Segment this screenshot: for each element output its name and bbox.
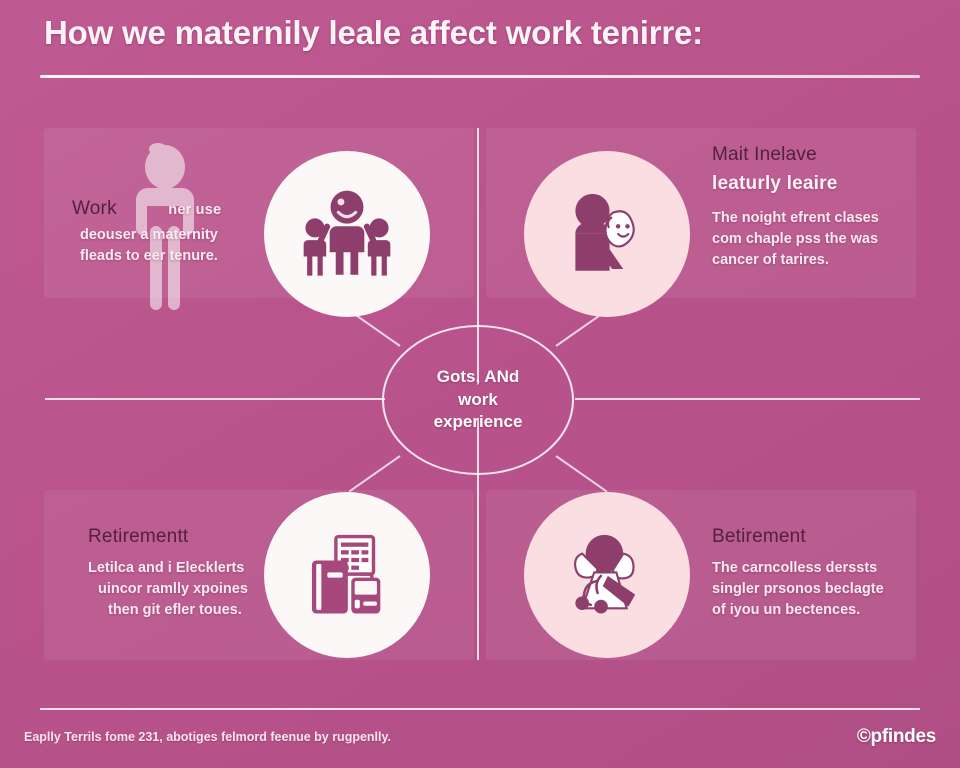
- icon-circle-work: [264, 151, 430, 317]
- text-block-retirement-documents: Retirementt Letilca and i Elecklerts uin…: [88, 524, 298, 621]
- subheading-maternity-leave: leaturly leaire: [712, 171, 912, 197]
- body-retirement-documents-line-3: then git efler toues.: [108, 600, 298, 621]
- spoke-bottom-left: [349, 455, 401, 492]
- heading-retirement-documents: Retirementt: [88, 524, 298, 550]
- body-retirement-person-line-3: of iyou un bectences.: [712, 600, 912, 621]
- person-with-items-icon: [560, 528, 654, 622]
- heading-work-tail: ner use: [168, 202, 221, 218]
- body-retirement-documents-line-1: Letilca and i Elecklerts: [88, 558, 298, 579]
- text-block-retirement-person: Betirement The carncolless derssts singl…: [712, 524, 912, 621]
- heading-work: Work ner use: [72, 196, 282, 222]
- infographic-canvas: How we maternily leale affect work tenir…: [0, 0, 960, 768]
- footer-note: Eaplly Terrils fome 231, abotiges felmor…: [24, 730, 391, 744]
- heading-retirement-person: Betirement: [712, 524, 912, 550]
- family-icon: [295, 186, 399, 282]
- body-retirement-person-line-2: singler prsonos beclagte: [712, 579, 912, 600]
- text-block-maternity-leave: Mait Inelave leaturly leaire The noight …: [712, 142, 912, 271]
- text-block-work: Work ner use deouser a maternity fleads …: [72, 196, 282, 267]
- center-hub: Gots, ANd work experience: [382, 325, 574, 475]
- hub-line-3: experience: [434, 411, 523, 433]
- body-retirement-person-line-1: The carncolless derssts: [712, 558, 912, 579]
- icon-circle-retirement-person: [524, 492, 690, 658]
- heading-maternity-leave: Mait Inelave: [712, 142, 912, 168]
- body-maternity-line-2: com chaple pss the was: [712, 229, 912, 250]
- hub-line-2: work: [458, 389, 498, 411]
- icon-circle-maternity-leave: [524, 151, 690, 317]
- hub-line-1: Gots, ANd: [437, 366, 519, 388]
- spoke-bottom-right: [555, 455, 607, 492]
- footer-divider: [40, 708, 920, 710]
- documents-and-binder-icon: [300, 528, 394, 622]
- body-work-line-1: deouser a maternity: [80, 225, 282, 246]
- parent-and-baby-icon: [560, 187, 654, 281]
- body-maternity-line-1: The noight efrent clases: [712, 208, 912, 229]
- body-retirement-documents-line-2: uincor ramlly xpoines: [98, 579, 298, 600]
- heading-work-label: Work: [72, 198, 117, 219]
- title-divider: [40, 75, 920, 78]
- page-title: How we maternily leale affect work tenir…: [44, 14, 924, 52]
- footer-brand: ©pfindes: [857, 726, 936, 748]
- body-maternity-line-3: cancer of tarires.: [712, 250, 912, 271]
- divider-horizontal-left: [45, 398, 385, 400]
- body-work-line-2: fleads to eer tenure.: [80, 246, 282, 267]
- divider-horizontal-right: [575, 398, 920, 400]
